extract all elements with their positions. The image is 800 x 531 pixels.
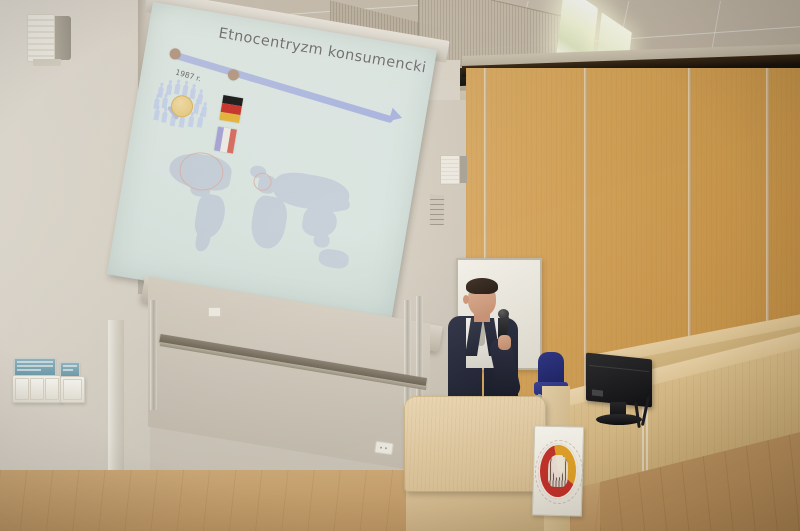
lecture-hall-photo: Etnocentryzm konsumencki 1987 r. <box>0 0 800 531</box>
institution-seal-plaque <box>532 425 584 516</box>
monitor-panel <box>586 353 652 408</box>
timeline-marker-dot <box>227 69 240 82</box>
hair <box>466 278 498 294</box>
wall-speaker-right <box>440 155 468 188</box>
wall-plate <box>208 307 221 317</box>
projection-screen: Etnocentryzm konsumencki 1987 r. <box>107 2 437 322</box>
ear <box>463 295 469 304</box>
wall-outlet[interactable] <box>374 441 393 455</box>
wall-speaker-left <box>27 14 72 66</box>
crowd-magnifier-icon <box>150 76 216 137</box>
timeline-arrow-icon <box>389 108 404 125</box>
aluminium-post <box>404 300 411 406</box>
podium <box>404 396 550 531</box>
flag-germany-icon <box>219 95 243 123</box>
light-switch-single[interactable] <box>60 376 85 403</box>
eagle-emblem-icon <box>548 455 569 488</box>
microphone-head-icon <box>498 309 509 319</box>
flag-france-icon <box>214 127 237 154</box>
aluminium-post <box>150 300 157 410</box>
hand <box>498 335 511 350</box>
light-switch-triple[interactable] <box>12 375 62 403</box>
podium-top <box>404 396 546 492</box>
monitor-badge <box>592 389 603 396</box>
computer-monitor[interactable] <box>586 356 660 432</box>
wall-sign <box>430 195 445 225</box>
world-map-icon <box>149 144 380 290</box>
